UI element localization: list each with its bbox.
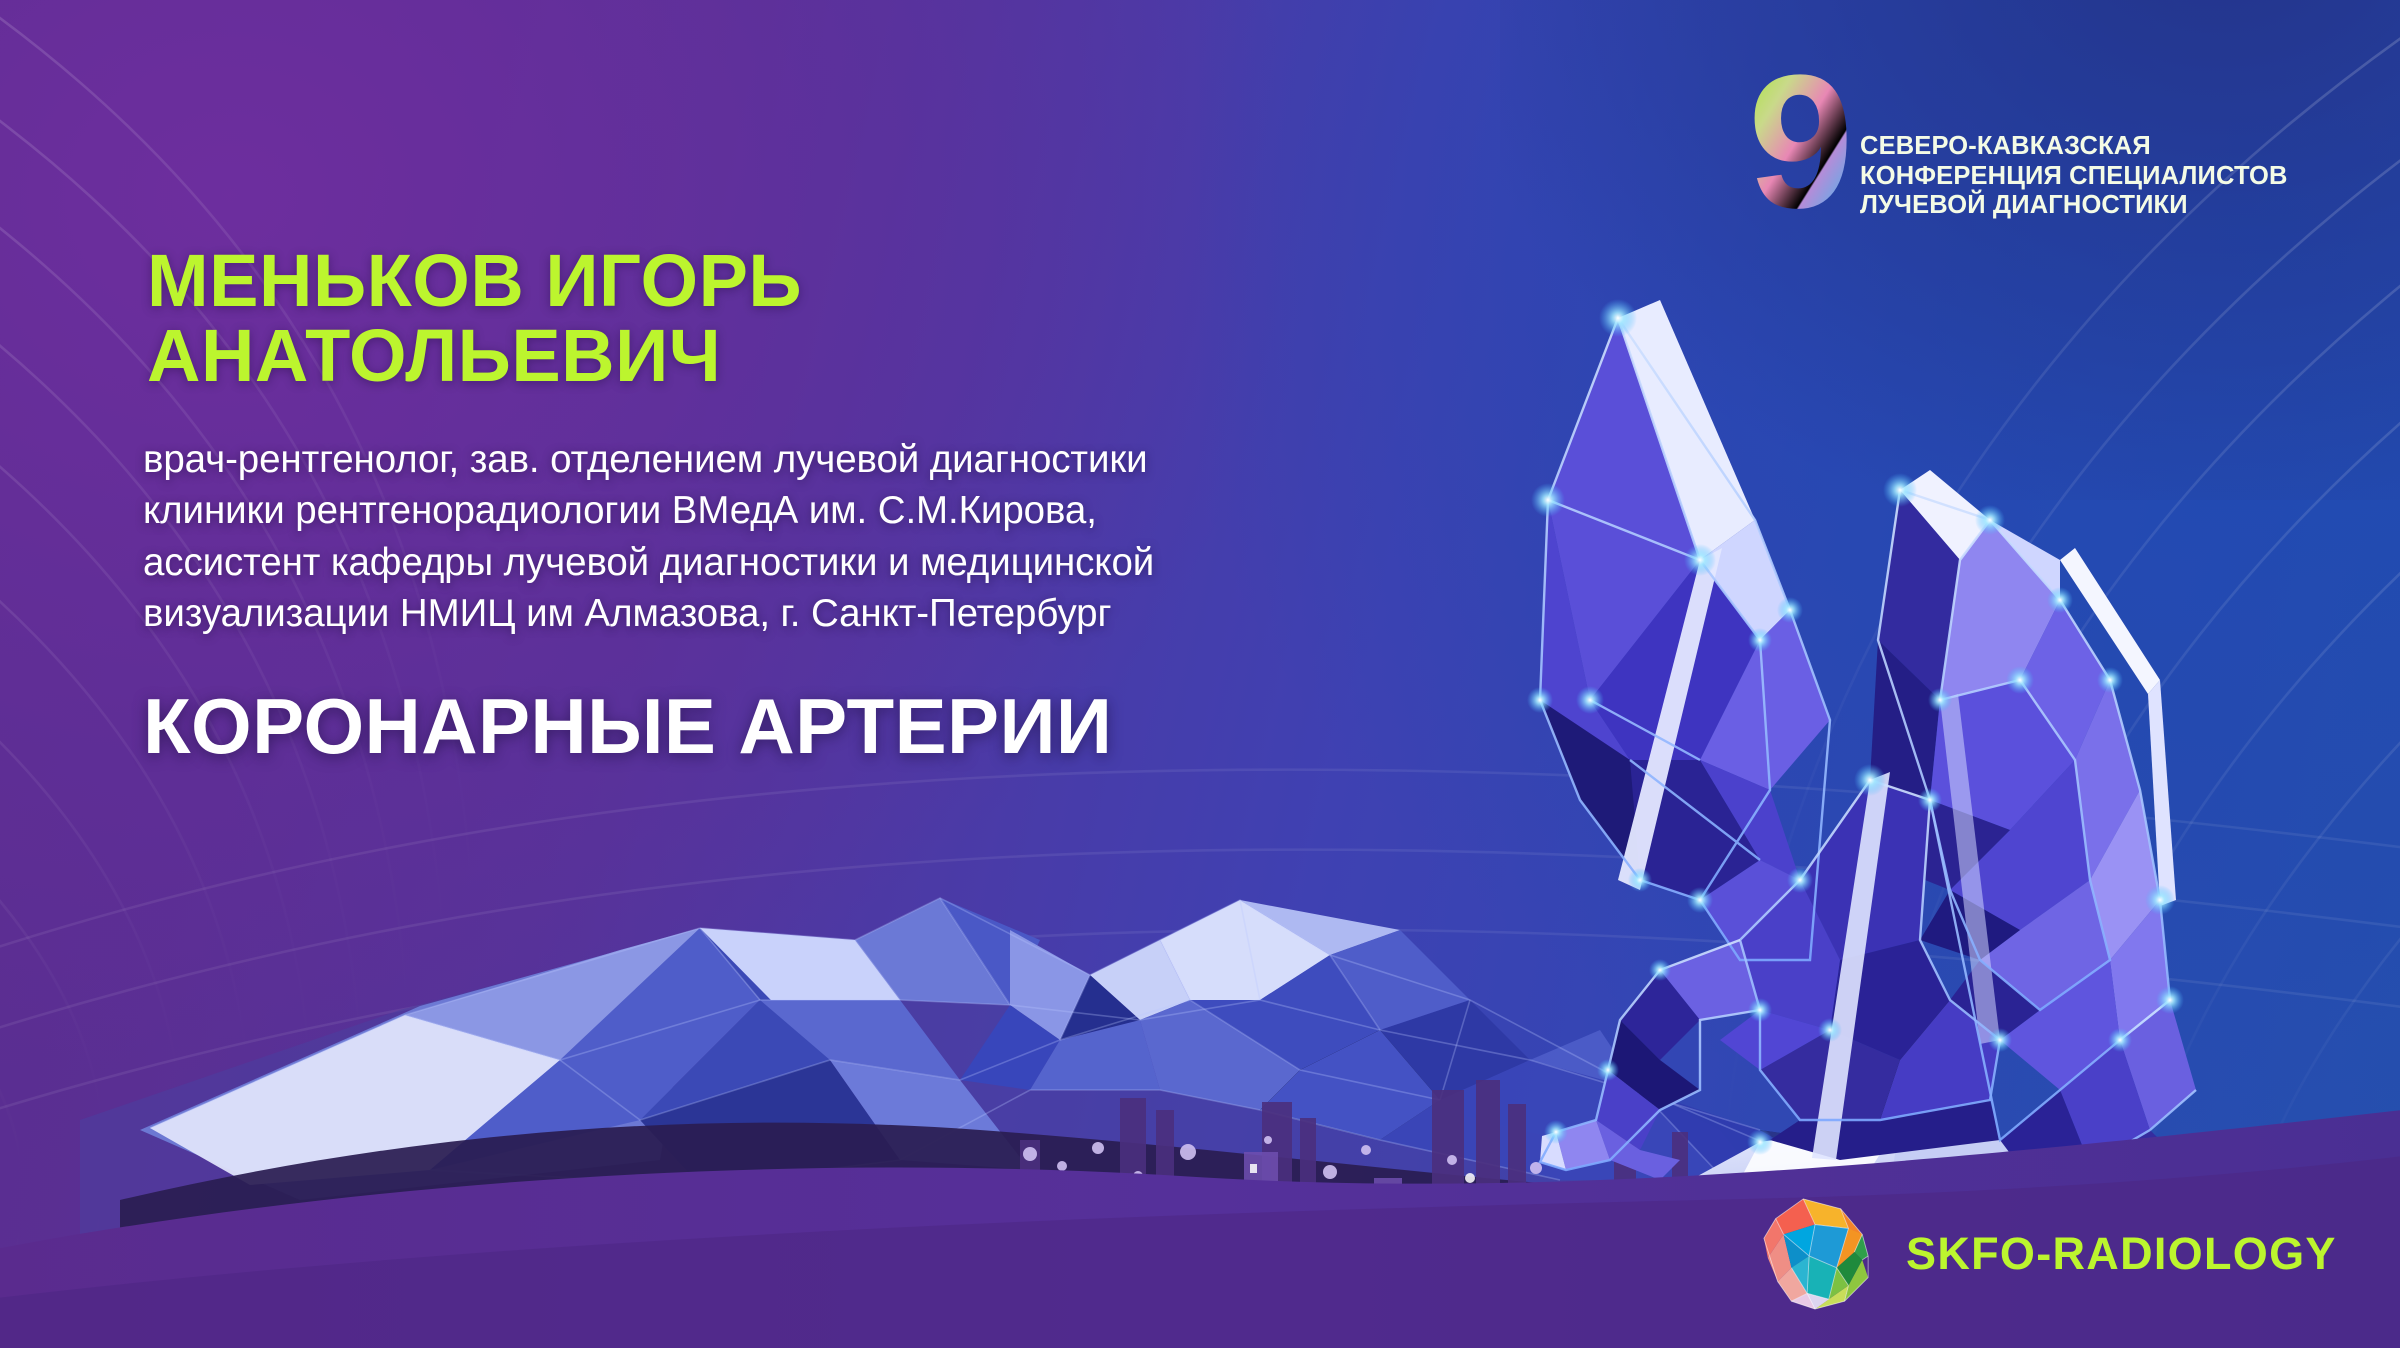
speaker-name: МЕНЬКОВ ИГОРЬ АНАТОЛЬЕВИЧ: [147, 243, 802, 394]
conference-logo: 9 СЕВЕРО-КАВКАЗСКАЯ КОНФЕРЕНЦИЯ СПЕЦИАЛИ…: [1752, 52, 2312, 232]
conference-edition-number-icon: 9: [1752, 52, 1877, 227]
conference-logo-line-3: ЛУЧЕВОЙ ДИАГНОСТИКИ: [1860, 191, 2288, 221]
polyhedron-icon: [1758, 1195, 1876, 1313]
city-buildings: [800, 1080, 1688, 1238]
eagle-sculpture-group: [1527, 299, 2196, 1222]
city-silhouette-group: [120, 1080, 1900, 1348]
conference-logo-line-2: КОНФЕРЕНЦИЯ СПЕЦИАЛИСТОВ: [1860, 162, 2288, 192]
eagle-glow-nodes: [1527, 299, 2184, 1202]
eagle-wireframe: [1540, 318, 2196, 1180]
mountains-group: [80, 898, 1980, 1348]
brand-logo: SKFO-RADIOLOGY: [1758, 1186, 2278, 1322]
edition-number-glyph: 9: [1752, 52, 1854, 227]
speaker-description: врач-рентгенолог, зав. отделением лучево…: [143, 434, 1154, 640]
brand-wordmark: SKFO-RADIOLOGY: [1906, 1228, 2337, 1280]
slide-root: МЕНЬКОВ ИГОРЬ АНАТОЛЬЕВИЧ врач-рентгенол…: [0, 0, 2400, 1348]
conference-logo-line-1: СЕВЕРО-КАВКАЗСКАЯ: [1860, 132, 2288, 162]
lecture-title: КОРОНАРНЫЕ АРТЕРИИ: [143, 681, 1112, 772]
conference-logo-lines: СЕВЕРО-КАВКАЗСКАЯ КОНФЕРЕНЦИЯ СПЕЦИАЛИСТ…: [1860, 132, 2288, 221]
city-lights: [475, 1136, 1585, 1225]
